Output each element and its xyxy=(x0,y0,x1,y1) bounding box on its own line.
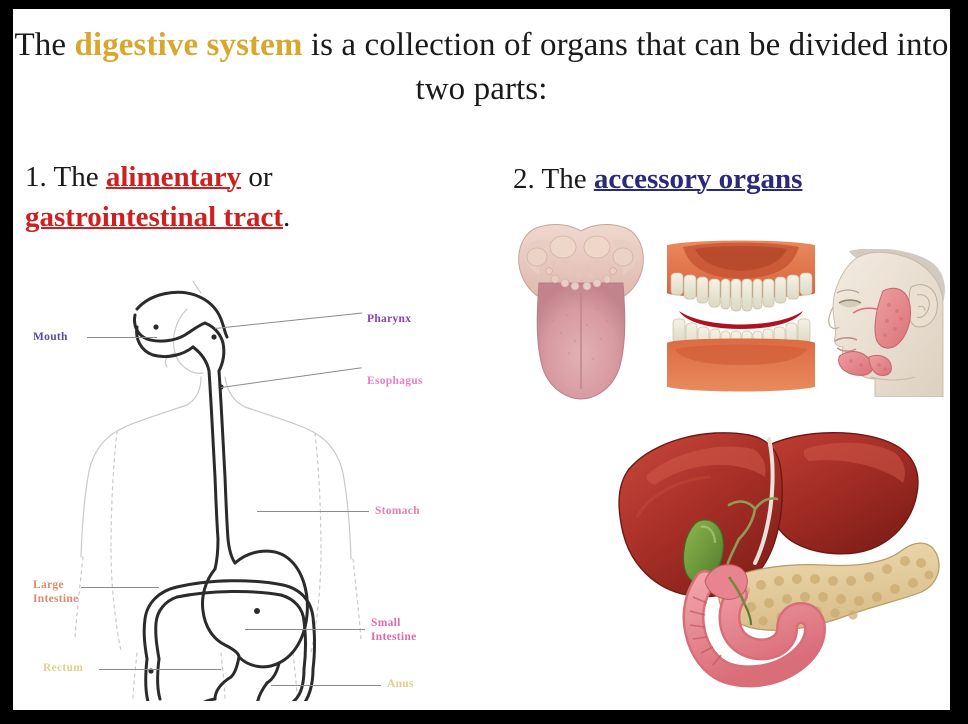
label-small-intestine-line2: Intestine xyxy=(371,631,417,644)
title-pre: The xyxy=(15,27,75,63)
title-post: is a collection of organs that can be di… xyxy=(302,27,948,107)
leader-line-large-intestine xyxy=(81,587,159,588)
label-large-intestine-line1: Large xyxy=(33,579,64,592)
label-rectum: Rectum xyxy=(43,662,83,675)
label-mouth: Mouth xyxy=(33,331,68,344)
term-accessory-organs: accessory organs xyxy=(594,163,803,195)
slide-canvas: The digestive system is a collection of … xyxy=(13,9,950,710)
heading-left-lead: The xyxy=(53,161,105,193)
heading-left-mid: or xyxy=(241,161,272,193)
label-small-intestine-line1: Small xyxy=(371,617,401,630)
heading-left-trail: . xyxy=(283,201,290,233)
term-alimentary: alimentary xyxy=(106,161,241,193)
leader-line-small-intestine xyxy=(245,629,365,630)
leader-line-anus xyxy=(271,685,381,686)
tongue-illustration xyxy=(513,221,649,401)
page-title: The digestive system is a collection of … xyxy=(13,23,950,111)
label-stomach: Stomach xyxy=(375,505,420,518)
heading-accessory-organs: 2. The accessory organs xyxy=(513,159,950,199)
leader-line-stomach xyxy=(257,511,369,512)
heading-right-number: 2. xyxy=(513,163,535,195)
teeth-illustration xyxy=(661,237,821,395)
label-esophagus: Esophagus xyxy=(367,375,423,388)
heading-left-number: 1. xyxy=(25,161,47,193)
leader-line-mouth xyxy=(87,337,157,338)
term-gastrointestinal-tract: gastrointestinal tract xyxy=(25,201,283,233)
label-large-intestine-line2: Intestine xyxy=(33,593,79,606)
leader-line-rectum xyxy=(99,669,221,670)
title-highlight: digestive system xyxy=(74,27,302,63)
liver-pancreas-illustration xyxy=(609,421,950,697)
label-anus: Anus xyxy=(387,678,414,691)
gi-tract-diagram: Mouth Pharynx Esophagus Stomach Large In… xyxy=(25,281,485,701)
heading-alimentary: 1. The alimentary or gastrointestinal tr… xyxy=(25,157,475,237)
salivary-glands-illustration xyxy=(825,249,950,397)
label-pharynx: Pharynx xyxy=(367,313,411,326)
heading-right-lead: The xyxy=(541,163,593,195)
